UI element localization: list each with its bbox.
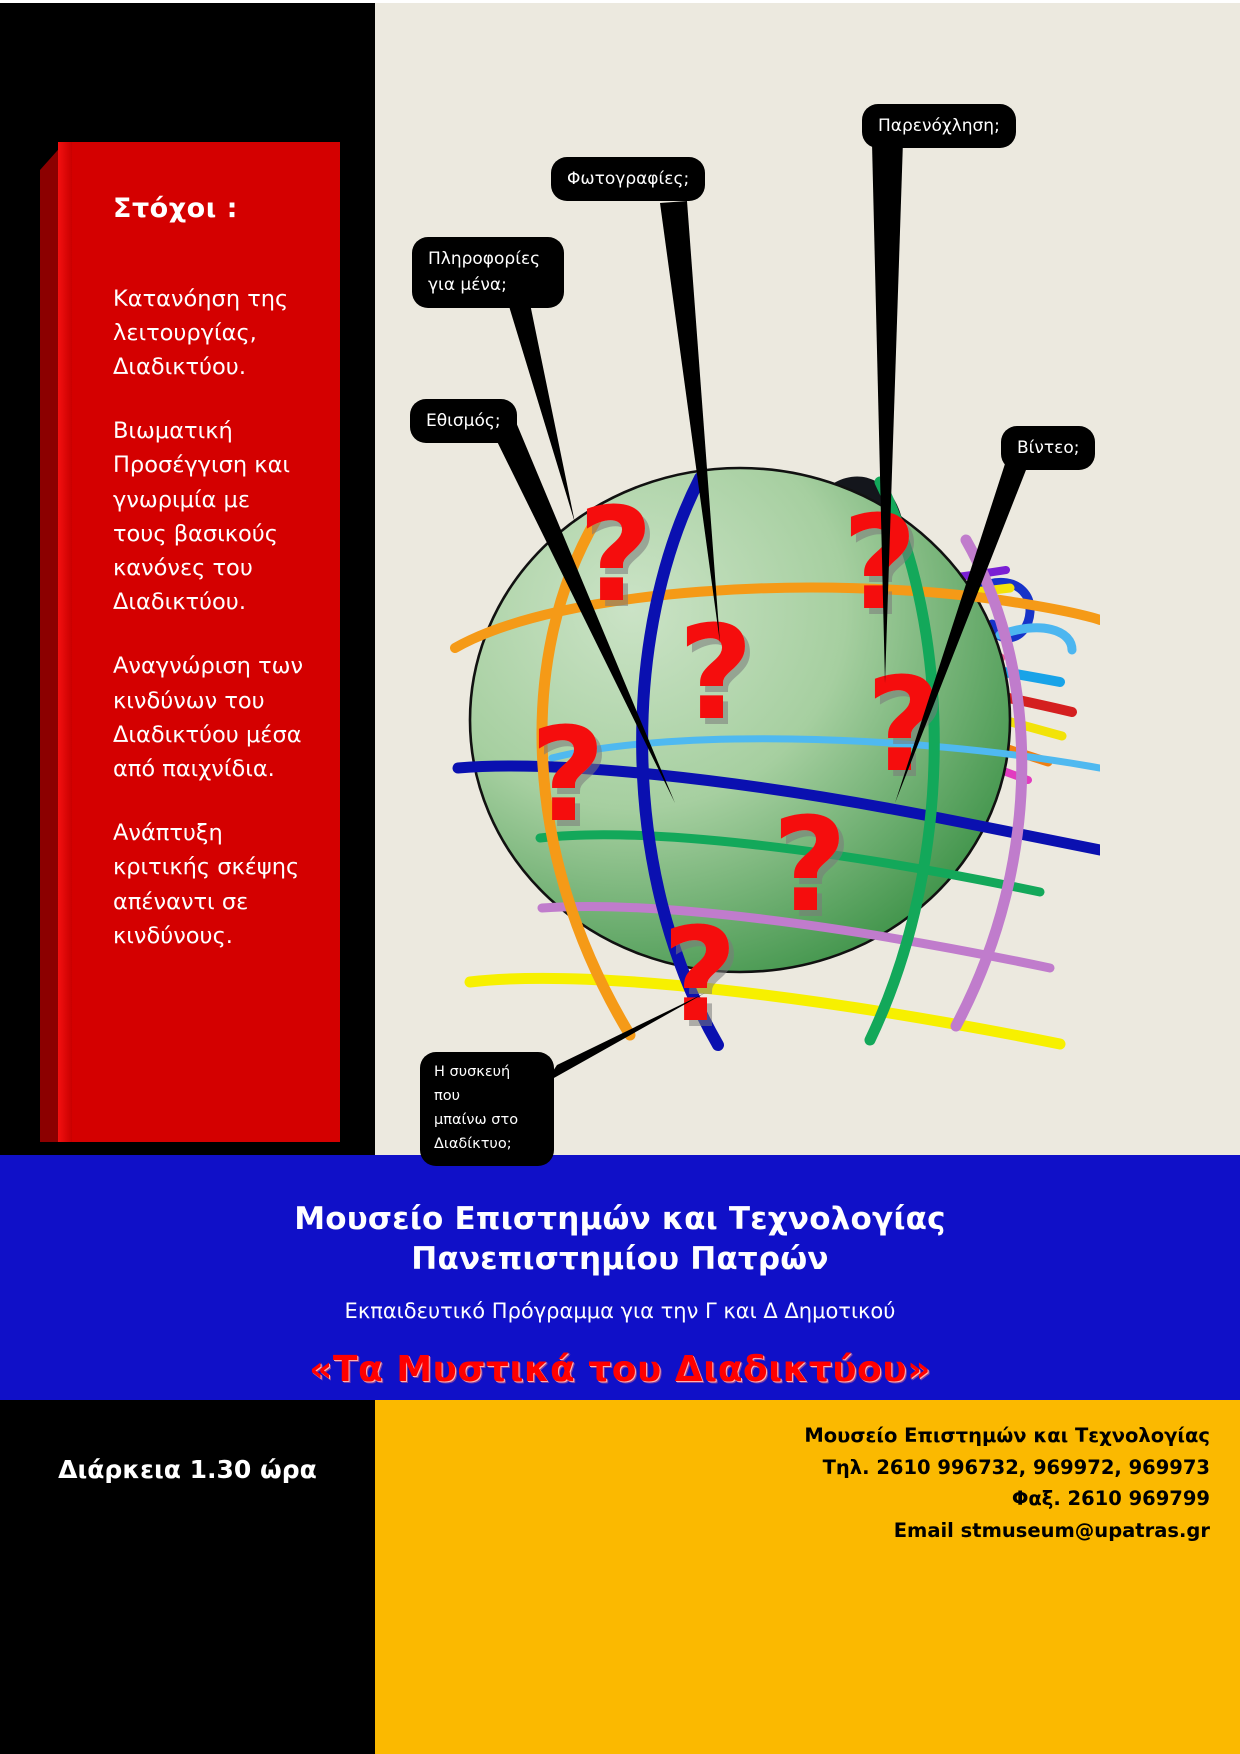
contact-line-4: Email stmuseum@upatras.gr (375, 1515, 1210, 1547)
objectives-box-sheen (58, 142, 72, 1142)
museum-title-line1: Μουσείο Επιστημών και Τεχνολογίας (294, 1201, 945, 1237)
objective-item-1: Κατανόηση της λειτουργίας, Διαδικτύου. (113, 282, 310, 385)
contact-line-1: Μουσείο Επιστημών και Τεχνολογίας (375, 1420, 1210, 1452)
bubble-parenochlisi[interactable]: Παρενόχληση; (862, 104, 1016, 148)
tail-fotografies (660, 201, 720, 643)
bubble-tails (375, 3, 1240, 1155)
contact-box: Μουσείο Επιστημών και Τεχνολογίας Τηλ. 2… (375, 1400, 1240, 1754)
objective-item-3: Αναγνώριση των κινδύνων του Διαδικτύου μ… (113, 649, 310, 786)
tail-plirofories (487, 415, 675, 803)
blue-banner: Μουσείο Επιστημών και Τεχνολογίας Πανεπι… (0, 1155, 1240, 1400)
objectives-title: Στόχοι : (113, 194, 310, 224)
top-hairline (0, 0, 1240, 3)
bubble-plirofories[interactable]: Πληροφορίες για μένα; (412, 237, 564, 308)
duration-label: Διάρκεια 1.30 ώρα (0, 1455, 375, 1484)
tail-siskevi (545, 993, 705, 1083)
bubble-siskevi[interactable]: Η συσκευή που μπαίνω στο Διαδίκτυο; (420, 1052, 554, 1166)
museum-title: Μουσείο Επιστημών και Τεχνολογίας Πανεπι… (0, 1155, 1240, 1279)
contact-line-2: Τηλ. 2610 996732, 969972, 969973 (375, 1452, 1210, 1484)
poster-root: Στόχοι : Κατανόηση της λειτουργίας, Διαδ… (0, 0, 1240, 1754)
museum-title-line2: Πανεπιστημίου Πατρών (411, 1241, 828, 1277)
program-title: «Τα Μυστικά του Διαδικτύου» (0, 1323, 1240, 1390)
tail-video (895, 433, 1035, 803)
bubble-video[interactable]: Βίντεο; (1001, 426, 1095, 470)
contact-line-3: Φαξ. 2610 969799 (375, 1483, 1210, 1515)
objectives-box: Στόχοι : Κατανόηση της λειτουργίας, Διαδ… (58, 142, 340, 1142)
objective-item-4: Ανάπτυξη κριτικής σκέψης απέναντι σε κιν… (113, 816, 310, 953)
objective-item-2: Βιωματική Προσέγγιση και γνωριμία με του… (113, 414, 310, 619)
bubble-ethismos[interactable]: Εθισμός; (410, 399, 517, 443)
program-subtitle: Εκπαιδευτικό Πρόγραμμα για την Γ και Δ Δ… (0, 1279, 1240, 1323)
bubble-fotografies[interactable]: Φωτογραφίες; (551, 157, 705, 201)
tail-parenochlisi (872, 141, 903, 683)
